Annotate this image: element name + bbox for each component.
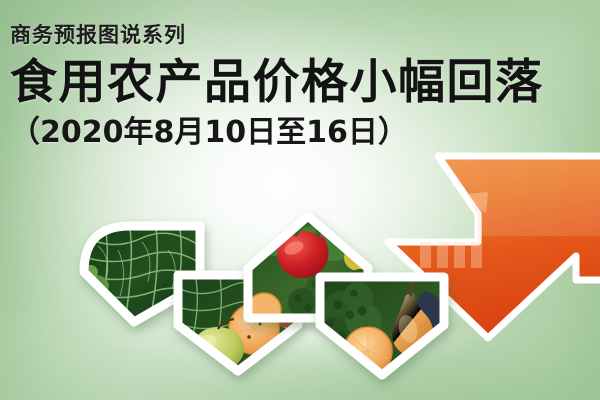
- arrow-gloss: [380, 150, 600, 236]
- series-kicker: 商务预报图说系列: [10, 24, 590, 47]
- poster-canvas: 商务预报图说系列 食用农产品价格小幅回落 （2020年8月10日至16日）: [0, 0, 600, 400]
- page-title: 食用农产品价格小幅回落: [10, 58, 590, 107]
- panel-pear-orange-broccoli: [310, 267, 460, 389]
- headline-text-block: 商务预报图说系列 食用农产品价格小幅回落 （2020年8月10日至16日）: [10, 24, 590, 149]
- date-range-label: （2020年8月10日至16日）: [10, 116, 590, 149]
